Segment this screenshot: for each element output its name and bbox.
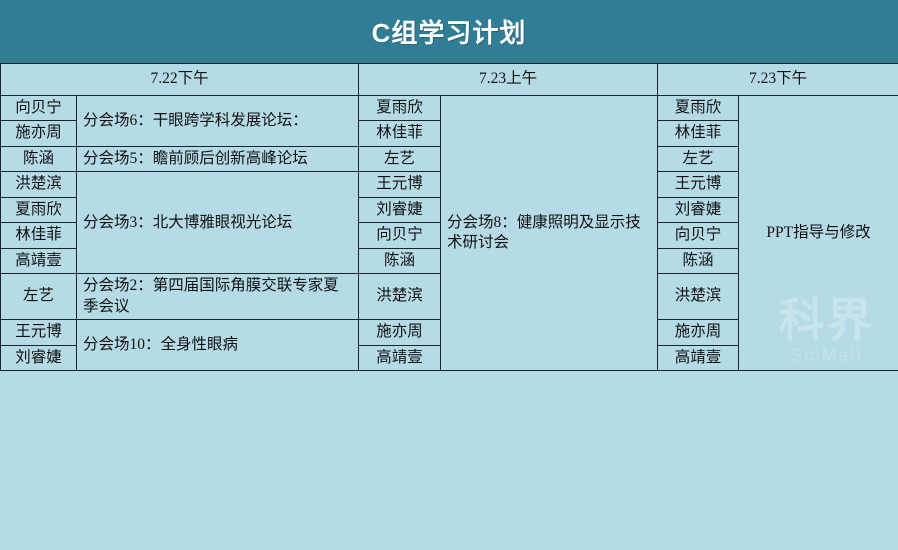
- watermark-cn-text: 科界: [779, 297, 875, 343]
- name-cell-col5-8: 施亦周: [658, 320, 739, 345]
- name-cell-col3-9: 高靖壹: [359, 345, 441, 370]
- study-plan-page: C组学习计划 7.22下午 7.23上午 7.23下午 向贝宁 分会场6：干眼跨…: [0, 0, 898, 550]
- header-row: 7.22下午 7.23上午 7.23下午: [1, 64, 898, 96]
- name-cell-col5-4: 刘睿婕: [658, 197, 739, 222]
- header-group-723-afternoon: 7.23下午: [658, 64, 898, 96]
- name-cell-col3-3: 王元博: [359, 172, 441, 197]
- table-row: 向贝宁 分会场6：干眼跨学科发展论坛： 夏雨欣 分会场8：健康照明及显示技术研讨…: [1, 96, 898, 121]
- name-cell-col3-0: 夏雨欣: [359, 96, 441, 121]
- name-cell-col1-6: 高靖壹: [1, 248, 77, 273]
- name-cell-col1-1: 施亦周: [1, 121, 77, 146]
- session-cell-col2-4: 分会场10：全身性眼病: [77, 320, 359, 371]
- page-title-bar: C组学习计划: [0, 0, 898, 63]
- name-cell-col1-7: 左艺: [1, 274, 77, 320]
- name-cell-col1-0: 向贝宁: [1, 96, 77, 121]
- name-cell-col1-3: 洪楚滨: [1, 172, 77, 197]
- header-group-722-afternoon: 7.22下午: [1, 64, 359, 96]
- name-cell-col5-1: 林佳菲: [658, 121, 739, 146]
- session-cell-col6: PPT指导与修改 科界 SciMall: [739, 96, 898, 371]
- name-cell-col5-0: 夏雨欣: [658, 96, 739, 121]
- name-cell-col1-2: 陈涵: [1, 146, 77, 171]
- header-group-723-morning: 7.23上午: [359, 64, 658, 96]
- session-cell-col2-2: 分会场3：北大博雅眼视光论坛: [77, 172, 359, 274]
- session-cell-col2-3: 分会场2：第四届国际角膜交联专家夏季会议: [77, 274, 359, 320]
- page-title: C组学习计划: [372, 13, 527, 50]
- name-cell-col3-1: 林佳菲: [359, 121, 441, 146]
- name-cell-col3-7: 洪楚滨: [359, 274, 441, 320]
- name-cell-col5-3: 王元博: [658, 172, 739, 197]
- study-plan-table: 7.22下午 7.23上午 7.23下午 向贝宁 分会场6：干眼跨学科发展论坛：…: [0, 63, 898, 371]
- name-cell-col3-4: 刘睿婕: [359, 197, 441, 222]
- name-cell-col5-5: 向贝宁: [658, 223, 739, 248]
- ppt-label: PPT指导与修改: [766, 224, 870, 241]
- name-cell-col5-9: 高靖壹: [658, 345, 739, 370]
- name-cell-col1-9: 刘睿婕: [1, 345, 77, 370]
- name-cell-col5-7: 洪楚滨: [658, 274, 739, 320]
- name-cell-col5-6: 陈涵: [658, 248, 739, 273]
- name-cell-col3-2: 左艺: [359, 146, 441, 171]
- name-cell-col1-8: 王元博: [1, 320, 77, 345]
- name-cell-col1-4: 夏雨欣: [1, 197, 77, 222]
- name-cell-col3-8: 施亦周: [359, 320, 441, 345]
- table-body: 向贝宁 分会场6：干眼跨学科发展论坛： 夏雨欣 分会场8：健康照明及显示技术研讨…: [1, 96, 898, 371]
- name-cell-col5-2: 左艺: [658, 146, 739, 171]
- name-cell-col3-5: 向贝宁: [359, 223, 441, 248]
- watermark-en-text: SciMall: [791, 343, 863, 368]
- session-cell-col2-0: 分会场6：干眼跨学科发展论坛：: [77, 96, 359, 147]
- table-header: 7.22下午 7.23上午 7.23下午: [1, 64, 898, 96]
- session-cell-col2-1: 分会场5：瞻前顾后创新高峰论坛: [77, 146, 359, 171]
- name-cell-col3-6: 陈涵: [359, 248, 441, 273]
- session-cell-col4: 分会场8：健康照明及显示技术研讨会: [441, 96, 658, 371]
- scimall-watermark: 科界 SciMall: [759, 276, 894, 368]
- name-cell-col1-5: 林佳菲: [1, 223, 77, 248]
